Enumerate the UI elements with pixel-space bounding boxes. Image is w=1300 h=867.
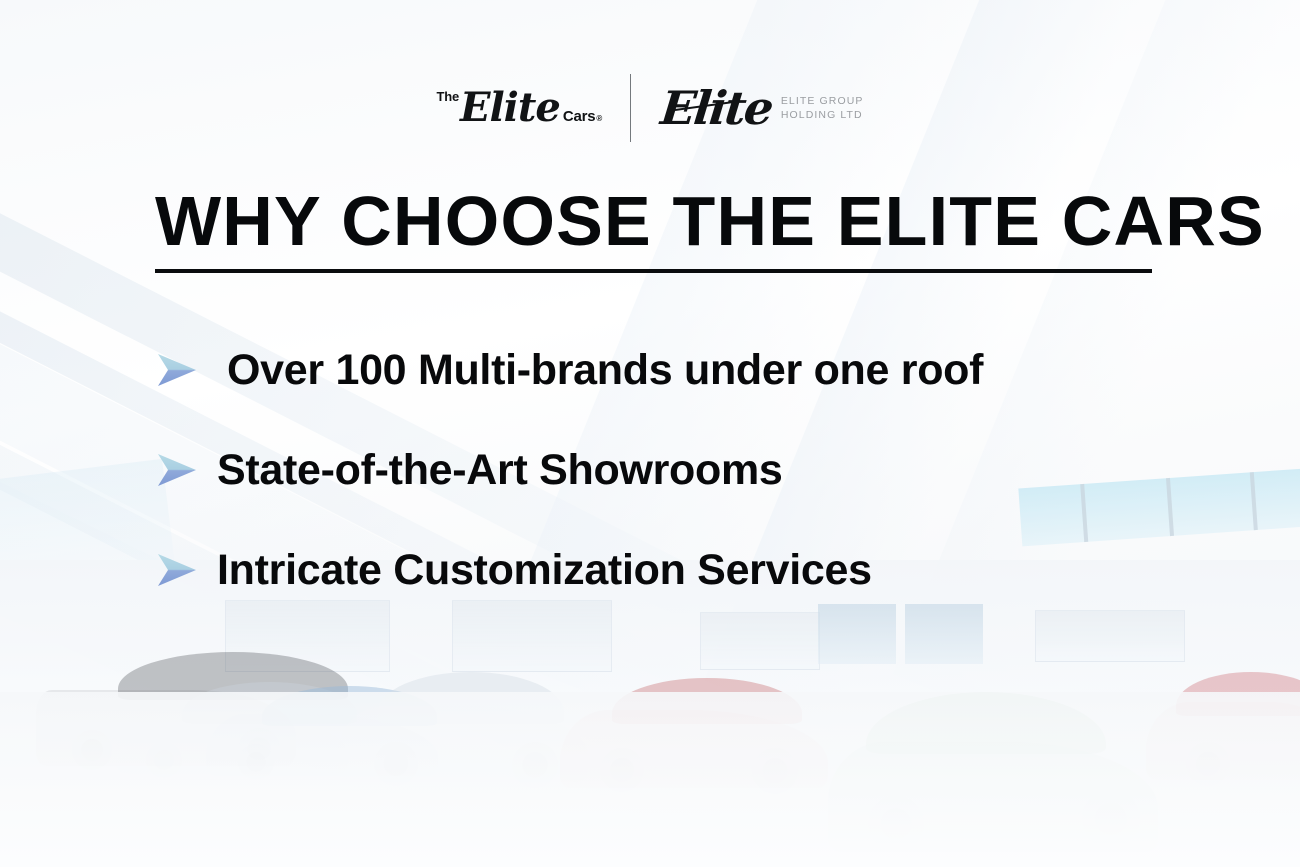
list-item-label: Intricate Customization Services bbox=[217, 549, 872, 592]
list-item-label: Over 100 Multi-brands under one roof bbox=[227, 349, 983, 392]
title-underline-rule bbox=[155, 269, 1152, 273]
registered-trademark-icon: ® bbox=[596, 114, 602, 123]
logo-cars-text: Cars bbox=[563, 108, 596, 125]
logo-the-elite-cars[interactable]: The Elite Cars ® bbox=[436, 88, 630, 128]
wall-panel bbox=[700, 612, 820, 670]
showroom-floor bbox=[0, 692, 1300, 867]
list-item: Intricate Customization Services bbox=[155, 520, 1205, 620]
list-item: Over 100 Multi-brands under one roof bbox=[155, 320, 1205, 420]
page-title: WHY CHOOSE THE ELITE CARS bbox=[155, 186, 1153, 256]
logo-elite-script: Elite bbox=[460, 88, 560, 128]
elite-script-mark: Elite bbox=[659, 85, 774, 131]
list-item: State-of-the-Art Showrooms bbox=[155, 420, 1205, 520]
arrow-right-icon bbox=[155, 450, 199, 490]
logo-divider bbox=[630, 74, 631, 142]
slide-why-choose-the-elite-cars: The Elite Cars ® Elite ELITE GROUP HOLDI… bbox=[0, 0, 1300, 867]
logo-bar: The Elite Cars ® Elite ELITE GROUP HOLDI… bbox=[0, 72, 1300, 144]
benefits-list: Over 100 Multi-brands under one roof bbox=[155, 320, 1205, 620]
arrow-right-icon bbox=[155, 550, 199, 590]
logo-elite-group-holding[interactable]: Elite ELITE GROUP HOLDING LTD bbox=[631, 85, 863, 131]
elite-group-holding-text: ELITE GROUP HOLDING LTD bbox=[781, 94, 864, 122]
list-item-label: State-of-the-Art Showrooms bbox=[217, 449, 783, 492]
arrow-right-icon bbox=[155, 350, 199, 390]
logo-the-text: The bbox=[436, 90, 459, 103]
